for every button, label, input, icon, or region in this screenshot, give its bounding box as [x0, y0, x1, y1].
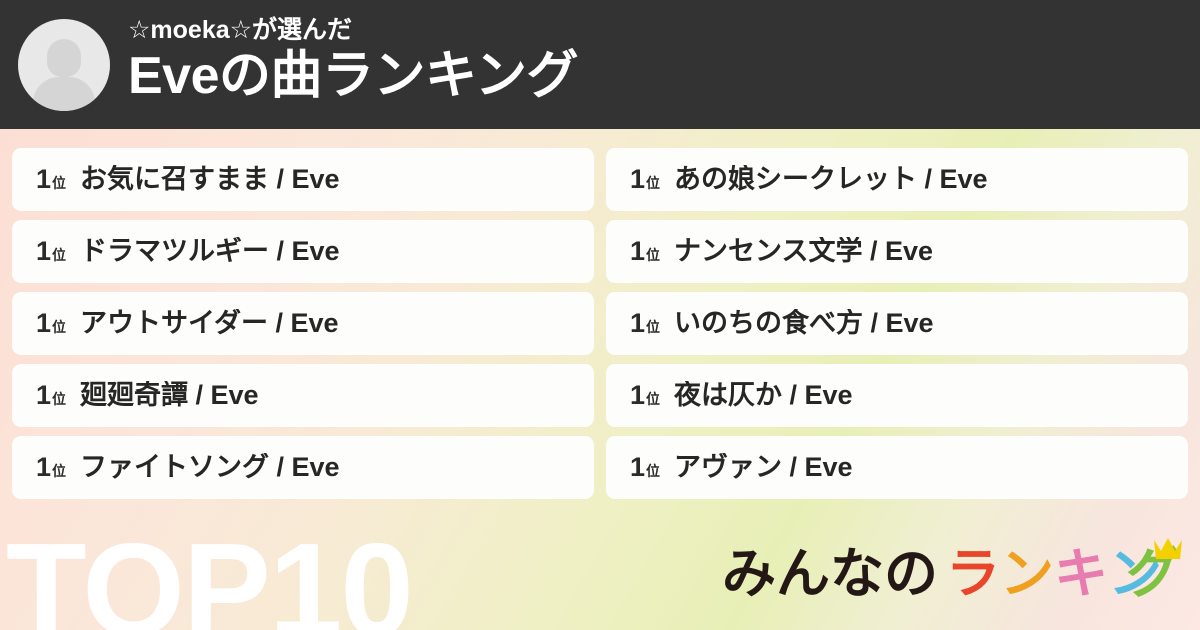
list-item[interactable]: 1位 いのちの食べ方 / Eve	[606, 292, 1188, 355]
song-title: 廻廻奇譚 / Eve	[80, 381, 259, 411]
rank-unit: 位	[52, 392, 66, 406]
rank-badge: 1位	[36, 166, 66, 193]
rank-badge: 1位	[630, 310, 660, 337]
rank-number: 1	[630, 166, 645, 193]
list-item[interactable]: 1位 あの娘シークレット / Eve	[606, 148, 1188, 211]
song-title: 夜は仄か / Eve	[674, 381, 853, 411]
ranking-share-card: ☆moeka☆が選んだ Eveの曲ランキング 1位 お気に召すまま / Eve …	[0, 0, 1200, 630]
rank-number: 1	[36, 166, 51, 193]
top10-label: TOP10	[6, 524, 412, 630]
brand-logo[interactable]: みんなの ラ ン キ ン グ	[722, 538, 1184, 608]
rank-unit: 位	[646, 392, 660, 406]
rank-badge: 1位	[630, 166, 660, 193]
song-title: ファイトソング / Eve	[80, 453, 340, 483]
user-avatar-icon	[18, 19, 110, 111]
avatar-body-shape	[33, 77, 95, 111]
rank-number: 1	[630, 238, 645, 265]
rank-number: 1	[630, 310, 645, 337]
song-title: アウトサイダー / Eve	[80, 309, 338, 339]
list-item[interactable]: 1位 ファイトソング / Eve	[12, 436, 594, 499]
rank-number: 1	[36, 310, 51, 337]
song-title: ドラマツルギー / Eve	[80, 237, 340, 267]
rank-unit: 位	[52, 248, 66, 262]
rank-badge: 1位	[36, 454, 66, 481]
rank-number: 1	[36, 454, 51, 481]
avatar-head-shape	[47, 39, 81, 77]
header-subtitle: ☆moeka☆が選んだ	[128, 17, 578, 44]
brand-text-minna: みんなの	[722, 542, 938, 605]
rank-badge: 1位	[36, 382, 66, 409]
rank-unit: 位	[646, 176, 660, 190]
song-title: あの娘シークレット / Eve	[674, 165, 988, 195]
ranking-list: 1位 お気に召すまま / Eve 1位 あの娘シークレット / Eve 1位 ド…	[12, 148, 1188, 499]
rank-unit: 位	[52, 176, 66, 190]
rank-unit: 位	[646, 464, 660, 478]
brand-char-ki: キ	[1054, 542, 1108, 605]
rank-badge: 1位	[630, 382, 660, 409]
rank-number: 1	[630, 454, 645, 481]
header-text-block: ☆moeka☆が選んだ Eveの曲ランキング	[128, 17, 578, 111]
brand-logo-svg: みんなの ラ ン キ ン グ	[722, 534, 1184, 608]
list-item[interactable]: 1位 アヴァン / Eve	[606, 436, 1188, 499]
rank-badge: 1位	[630, 238, 660, 265]
rank-unit: 位	[52, 320, 66, 334]
rank-number: 1	[36, 238, 51, 265]
brand-char-n1: ン	[1000, 542, 1054, 605]
song-title: ナンセンス文学 / Eve	[674, 237, 933, 267]
page-title: Eveの曲ランキング	[128, 46, 578, 107]
rank-badge: 1位	[630, 454, 660, 481]
song-title: いのちの食べ方 / Eve	[674, 309, 934, 339]
song-title: アヴァン / Eve	[674, 453, 853, 483]
list-item[interactable]: 1位 ドラマツルギー / Eve	[12, 220, 594, 283]
rank-unit: 位	[52, 464, 66, 478]
list-item[interactable]: 1位 ナンセンス文学 / Eve	[606, 220, 1188, 283]
list-item[interactable]: 1位 アウトサイダー / Eve	[12, 292, 594, 355]
rank-unit: 位	[646, 248, 660, 262]
rank-badge: 1位	[36, 310, 66, 337]
rank-number: 1	[630, 382, 645, 409]
rank-badge: 1位	[36, 238, 66, 265]
list-item[interactable]: 1位 夜は仄か / Eve	[606, 364, 1188, 427]
header-bar: ☆moeka☆が選んだ Eveの曲ランキング	[0, 0, 1200, 129]
rank-number: 1	[36, 382, 51, 409]
list-item[interactable]: 1位 廻廻奇譚 / Eve	[12, 364, 594, 427]
list-item[interactable]: 1位 お気に召すまま / Eve	[12, 148, 594, 211]
song-title: お気に召すまま / Eve	[80, 165, 340, 195]
brand-char-ra: ラ	[946, 542, 1000, 605]
rank-unit: 位	[646, 320, 660, 334]
